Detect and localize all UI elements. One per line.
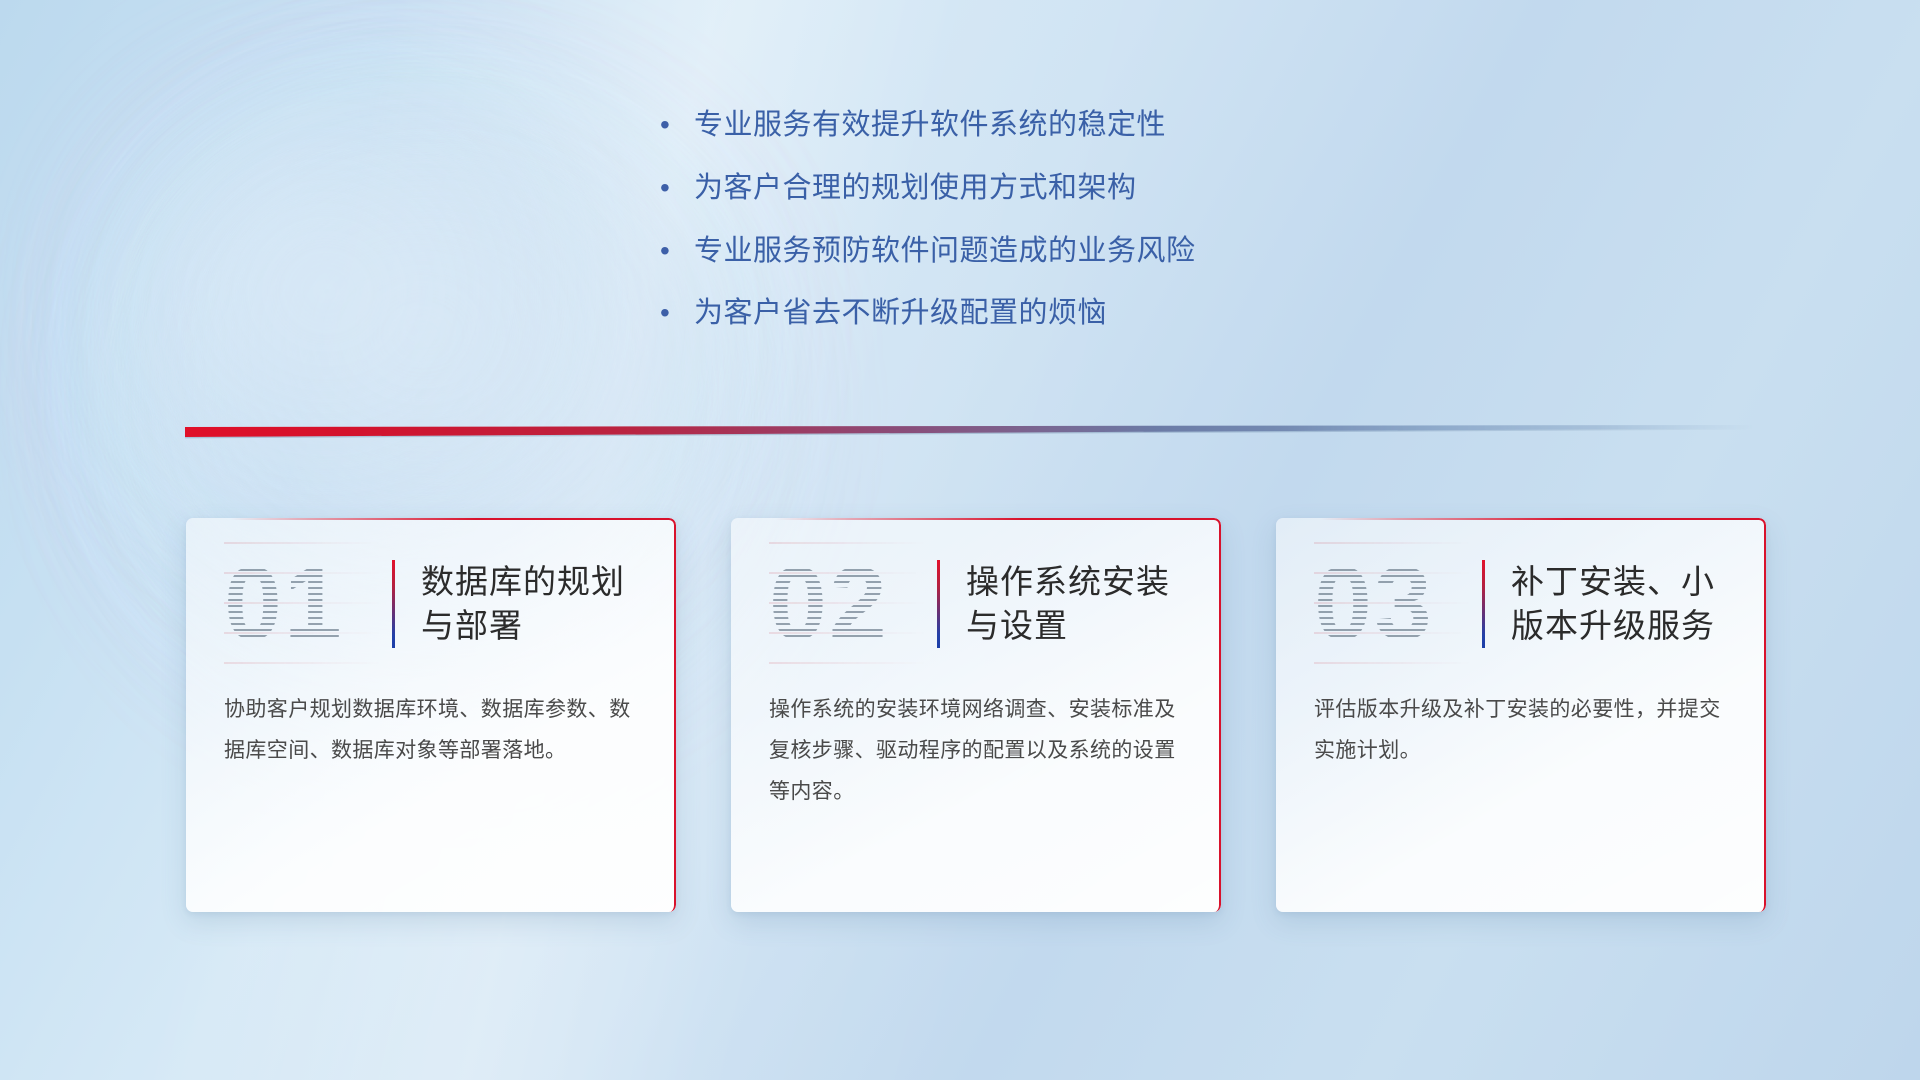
card-title-02: 操作系统安装 与设置 [966,560,1170,647]
card-number-01: 01 [224,542,384,667]
card-number-text: 01 [224,545,344,664]
benefits-bullet-list: • 专业服务有效提升软件系统的稳定性 • 为客户合理的规划使用方式和架构 • 专… [660,108,1420,359]
section-divider [185,420,1755,442]
bullet-label-4: 为客户省去不断升级配置的烦恼 [694,296,1107,331]
card-title-01: 数据库的规划 与部署 [421,560,625,647]
bullet-dot-icon: • [660,174,694,202]
list-item: • 专业服务预防软件问题造成的业务风险 [660,234,1420,269]
card-number-text: 03 [1314,545,1434,664]
card-header: 03 补丁安装、小 版本升级服务 [1276,518,1766,690]
bullet-label-3: 专业服务预防软件问题造成的业务风险 [694,234,1196,269]
card-body-02: 操作系统的安装环境网络调查、安装标准及复核步骤、驱动程序的配置以及系统的设置等内… [731,690,1221,813]
card-header: 01 数据库的规划 与部署 [186,518,676,690]
card-title-03: 补丁安装、小 版本升级服务 [1511,560,1715,647]
service-card-03[interactable]: 03 补丁安装、小 版本升级服务 评估版本升级及补丁安装的必要性，并提交实施计划… [1276,518,1766,912]
card-gradient-bar [937,560,940,648]
card-gradient-bar [392,560,395,648]
card-number-02: 02 [769,542,929,667]
service-card-01[interactable]: 01 数据库的规划 与部署 协助客户规划数据库环境、数据库参数、数据库空间、数据… [186,518,676,912]
card-number-03: 03 [1314,542,1474,667]
card-gradient-bar [1482,560,1485,648]
service-card-row: 01 数据库的规划 与部署 协助客户规划数据库环境、数据库参数、数据库空间、数据… [186,518,1786,912]
bullet-dot-icon: • [660,111,694,139]
bullet-label-2: 为客户合理的规划使用方式和架构 [694,171,1137,206]
bullet-dot-icon: • [660,299,694,327]
card-body-03: 评估版本升级及补丁安装的必要性，并提交实施计划。 [1276,690,1766,772]
list-item: • 专业服务有效提升软件系统的稳定性 [660,108,1420,143]
bullet-label-1: 专业服务有效提升软件系统的稳定性 [694,108,1166,143]
list-item: • 为客户合理的规划使用方式和架构 [660,171,1420,206]
service-card-02[interactable]: 02 操作系统安装 与设置 操作系统的安装环境网络调查、安装标准及复核步骤、驱动… [731,518,1221,912]
list-item: • 为客户省去不断升级配置的烦恼 [660,296,1420,331]
card-header: 02 操作系统安装 与设置 [731,518,1221,690]
card-body-01: 协助客户规划数据库环境、数据库参数、数据库空间、数据库对象等部署落地。 [186,690,676,772]
card-number-text: 02 [769,545,889,664]
bullet-dot-icon: • [660,237,694,265]
